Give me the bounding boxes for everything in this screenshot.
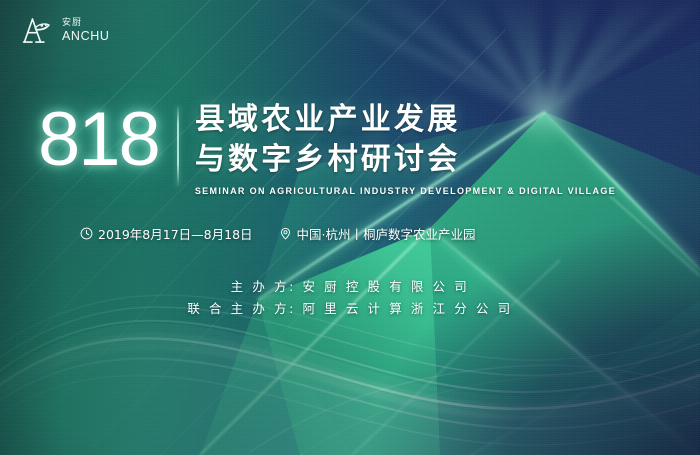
clock-icon: [80, 227, 93, 240]
organizer-host: 主 办 方: 安 厨 控 股 有 限 公 司: [0, 276, 700, 298]
title-divider: [177, 106, 179, 186]
organizer-cohost: 联 合 主 办 方: 阿 里 云 计 算 浙 江 分 公 司: [0, 298, 700, 320]
event-date: 2019年8月17日—8月18日: [80, 224, 253, 243]
title-line-2: 与数字乡村研讨会: [195, 140, 616, 180]
event-venue-label: 中国·杭州丨桐庐数字农业产业园: [297, 224, 476, 243]
title-subtitle-en: SEMINAR ON AGRICULTURAL INDUSTRY DEVELOP…: [195, 186, 616, 196]
anchu-leaf-a-logo-icon: [21, 14, 55, 48]
event-venue: 中国·杭州丨桐庐数字农业产业园: [279, 224, 476, 243]
event-meta: 2019年8月17日—8月18日 中国·杭州丨桐庐数字农业产业园: [80, 224, 476, 243]
location-pin-icon: [279, 227, 292, 240]
title-text-block: 县域农业产业发展 与数字乡村研讨会 SEMINAR ON AGRICULTURA…: [195, 98, 616, 196]
brand-wordmark: 安厨 ANCHU: [62, 19, 109, 43]
brand-name-en: ANCHU: [62, 30, 109, 43]
title-line-1: 县域农业产业发展: [195, 100, 616, 140]
event-number: 818: [38, 104, 159, 177]
conference-poster: 安厨 ANCHU 818 县域农业产业发展 与数字乡村研讨会 SEMINAR O…: [0, 0, 700, 455]
organizers-block: 主 办 方: 安 厨 控 股 有 限 公 司 联 合 主 办 方: 阿 里 云 …: [0, 276, 700, 320]
headline-block: 818 县域农业产业发展 与数字乡村研讨会 SEMINAR ON AGRICUL…: [38, 98, 616, 196]
brand-name-cn: 安厨: [62, 19, 109, 28]
event-date-label: 2019年8月17日—8月18日: [98, 224, 253, 243]
brand-logo[interactable]: 安厨 ANCHU: [21, 14, 109, 48]
